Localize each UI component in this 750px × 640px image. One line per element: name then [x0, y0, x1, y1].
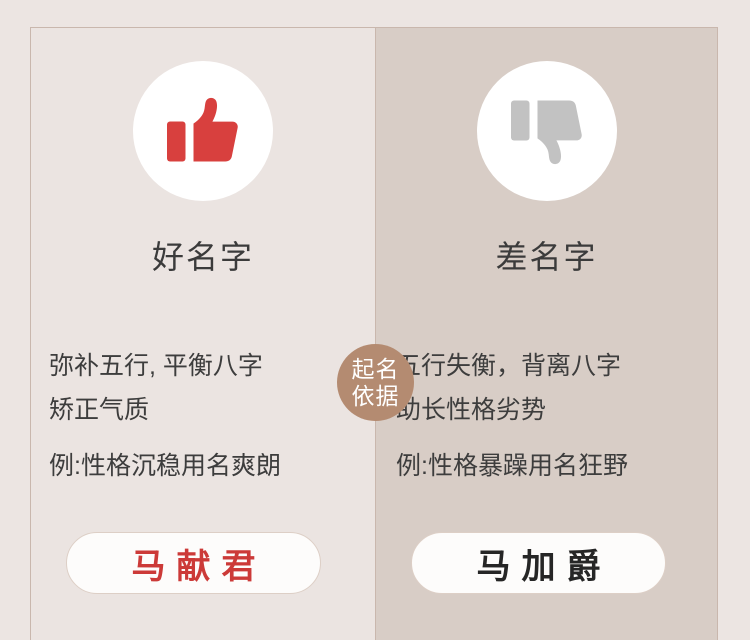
panel-bad-copy: 五行失衡，背离八字 助长性格劣势 例:性格暴躁用名狂野: [396, 344, 703, 488]
bad-sample-name: 马加爵: [466, 539, 612, 588]
good-line-1: 弥补五行, 平衡八字: [49, 344, 361, 388]
comparison-infographic: 好名字 弥补五行, 平衡八字 矫正气质 例:性格沉稳用名爽朗 马献君 差名字 五: [0, 0, 750, 640]
pivot-badge: 起名 依据: [337, 344, 414, 421]
bad-line-1: 五行失衡，背离八字: [396, 344, 703, 388]
bad-name-medallion: [477, 61, 617, 201]
good-name-pill[interactable]: 马献君: [66, 532, 321, 594]
pivot-badge-line-1: 起名: [352, 356, 400, 383]
bad-example: 例:性格暴躁用名狂野: [396, 444, 703, 488]
thumbs-up-icon: [160, 88, 246, 174]
panel-good-name: 好名字 弥补五行, 平衡八字 矫正气质 例:性格沉稳用名爽朗 马献君: [30, 27, 375, 640]
panel-good-copy: 弥补五行, 平衡八字 矫正气质 例:性格沉稳用名爽朗: [49, 344, 361, 488]
bad-name-pill[interactable]: 马加爵: [411, 532, 666, 594]
good-sample-name: 马献君: [121, 539, 267, 588]
panel-good-title: 好名字: [31, 237, 375, 277]
good-example: 例:性格沉稳用名爽朗: [49, 444, 361, 488]
bad-line-2: 助长性格劣势: [396, 388, 703, 432]
panel-bad-name: 差名字 五行失衡，背离八字 助长性格劣势 例:性格暴躁用名狂野 马加爵: [375, 27, 718, 640]
thumbs-down-icon: [504, 88, 590, 174]
panel-bad-title: 差名字: [376, 237, 717, 277]
good-name-medallion: [133, 61, 273, 201]
pivot-badge-line-2: 依据: [352, 383, 400, 410]
good-line-2: 矫正气质: [49, 388, 361, 432]
